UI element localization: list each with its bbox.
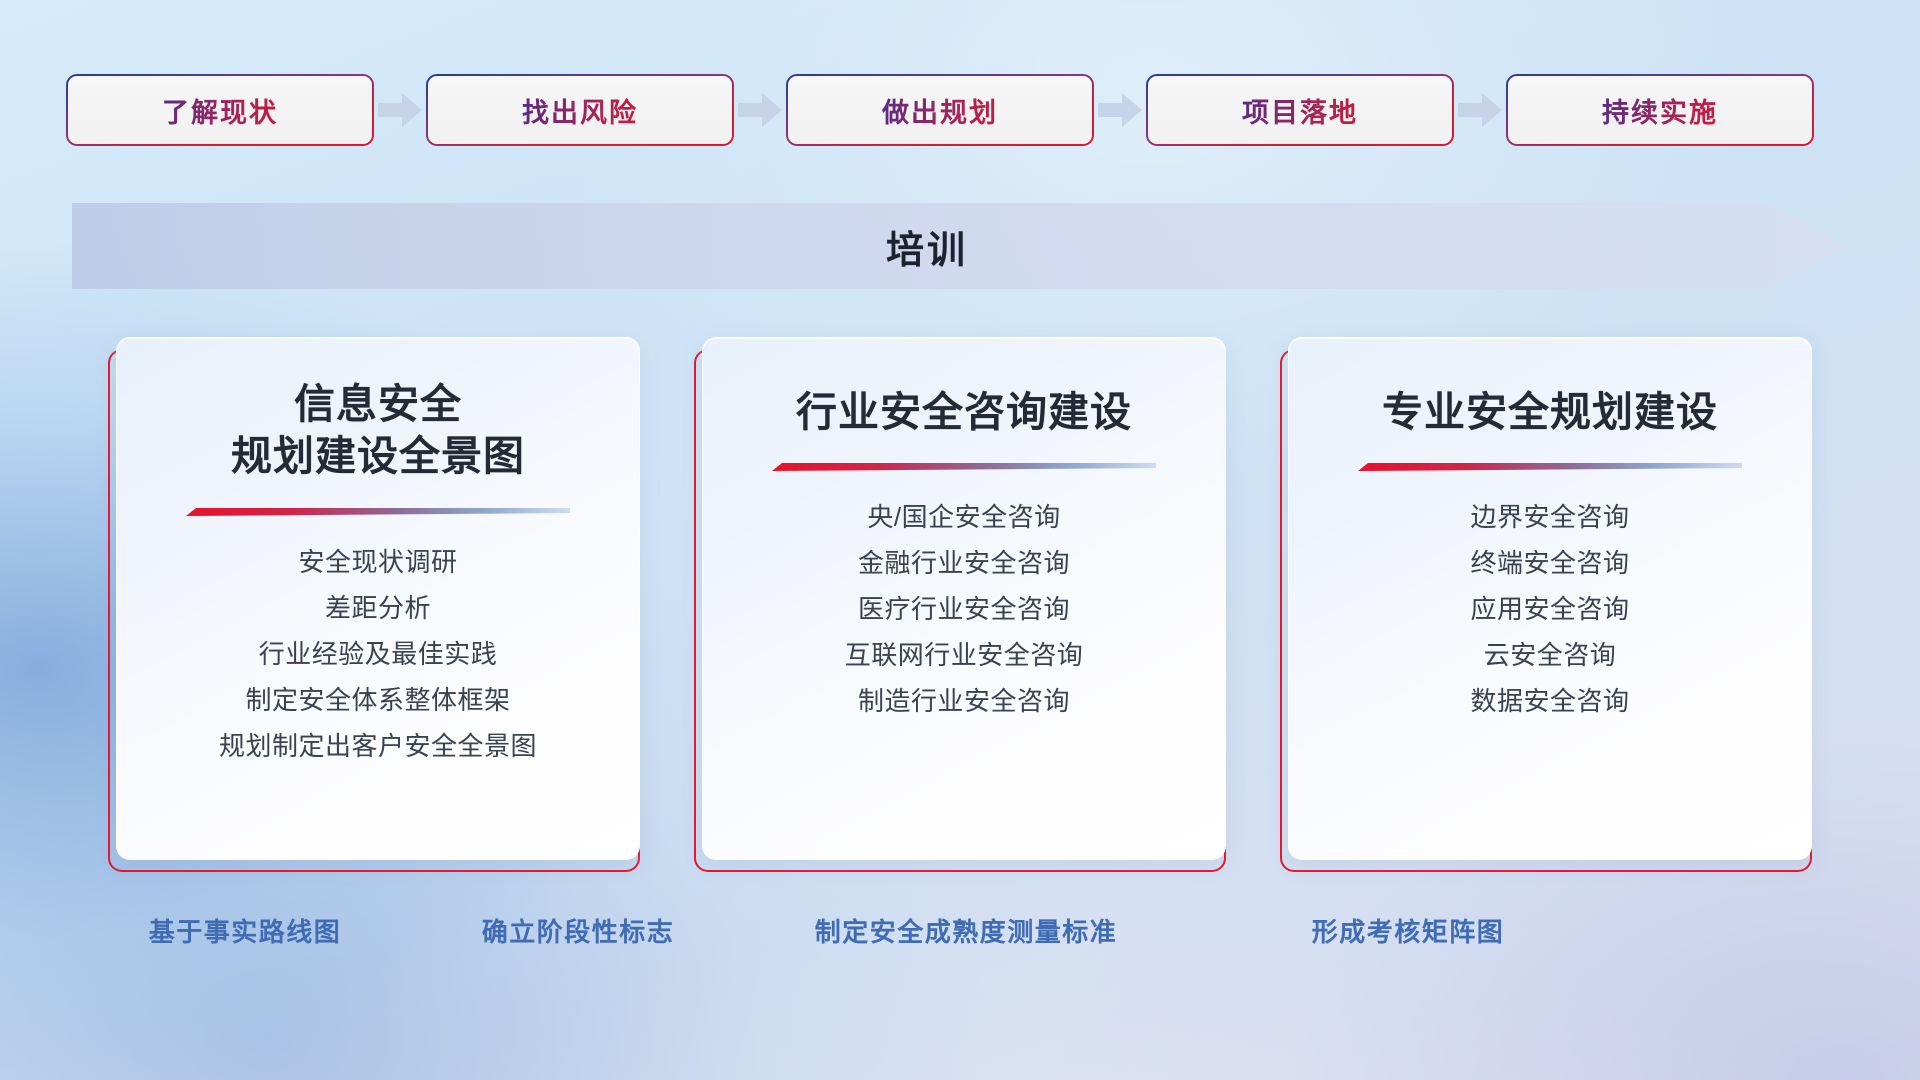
list-item: 边界安全咨询 [1289, 494, 1811, 540]
caption-3: 制定安全成熟度测量标准 [815, 912, 1118, 949]
list-item: 制定安全体系整体框架 [117, 677, 639, 723]
process-step-row: 了解现状 找出风险 做出规划 项目落地 持续实施 [68, 76, 1852, 144]
list-item: 终端安全咨询 [1289, 540, 1811, 586]
step-label: 找出风险 [428, 76, 732, 144]
slide-canvas: 了解现状 找出风险 做出规划 项目落地 持续实施 [0, 0, 1920, 1080]
tapered-divider-icon [186, 505, 570, 519]
step-box-5[interactable]: 持续实施 [1508, 76, 1812, 144]
arrow-right-icon [732, 90, 788, 130]
card-item-list: 边界安全咨询 终端安全咨询 应用安全咨询 云安全咨询 数据安全咨询 [1289, 494, 1811, 724]
training-banner: 培训 [72, 203, 1848, 289]
list-item: 制造行业安全咨询 [703, 678, 1225, 724]
card-2[interactable]: 行业安全咨询建设 [694, 337, 1226, 872]
step-label: 持续实施 [1508, 76, 1812, 144]
caption-2: 确立阶段性标志 [482, 912, 675, 949]
card-body: 专业安全规划建设 [1288, 337, 1812, 860]
card-3[interactable]: 专业安全规划建设 [1280, 337, 1812, 872]
list-item: 云安全咨询 [1289, 632, 1811, 678]
step-label: 了解现状 [68, 76, 372, 144]
caption-row: 基于事实路线图 确立阶段性标志 制定安全成熟度测量标准 形成考核矩阵图 [0, 912, 1920, 958]
list-item: 行业经验及最佳实践 [117, 631, 639, 677]
step-box-3[interactable]: 做出规划 [788, 76, 1092, 144]
caption-1: 基于事实路线图 [149, 912, 342, 949]
list-item: 央/国企安全咨询 [703, 494, 1225, 540]
step-box-2[interactable]: 找出风险 [428, 76, 732, 144]
list-item: 互联网行业安全咨询 [703, 632, 1225, 678]
caption-4: 形成考核矩阵图 [1312, 912, 1505, 949]
banner-title: 培训 [72, 203, 1782, 289]
tapered-divider-icon [1358, 460, 1742, 474]
step-label: 项目落地 [1148, 76, 1452, 144]
card-body: 信息安全 规划建设全景图 [116, 337, 640, 860]
card-body: 行业安全咨询建设 [702, 337, 1226, 860]
list-item: 规划制定出客户安全全景图 [117, 723, 639, 769]
card-title: 信息安全 规划建设全景图 [117, 378, 639, 483]
step-box-4[interactable]: 项目落地 [1148, 76, 1452, 144]
list-item: 数据安全咨询 [1289, 678, 1811, 724]
step-box-1[interactable]: 了解现状 [68, 76, 372, 144]
list-item: 安全现状调研 [117, 539, 639, 585]
card-row: 信息安全 规划建设全景图 [108, 337, 1812, 872]
arrow-right-icon [1092, 90, 1148, 130]
list-item: 医疗行业安全咨询 [703, 586, 1225, 632]
tapered-divider-icon [772, 460, 1156, 474]
list-item: 金融行业安全咨询 [703, 540, 1225, 586]
card-item-list: 安全现状调研 差距分析 行业经验及最佳实践 制定安全体系整体框架 规划制定出客户… [117, 539, 639, 769]
card-item-list: 央/国企安全咨询 金融行业安全咨询 医疗行业安全咨询 互联网行业安全咨询 制造行… [703, 494, 1225, 724]
card-title: 行业安全咨询建设 [703, 386, 1225, 438]
arrow-right-icon [1452, 90, 1508, 130]
list-item: 差距分析 [117, 585, 639, 631]
step-label: 做出规划 [788, 76, 1092, 144]
list-item: 应用安全咨询 [1289, 586, 1811, 632]
card-title: 专业安全规划建设 [1289, 386, 1811, 438]
arrow-right-icon [372, 90, 428, 130]
card-1[interactable]: 信息安全 规划建设全景图 [108, 337, 640, 872]
